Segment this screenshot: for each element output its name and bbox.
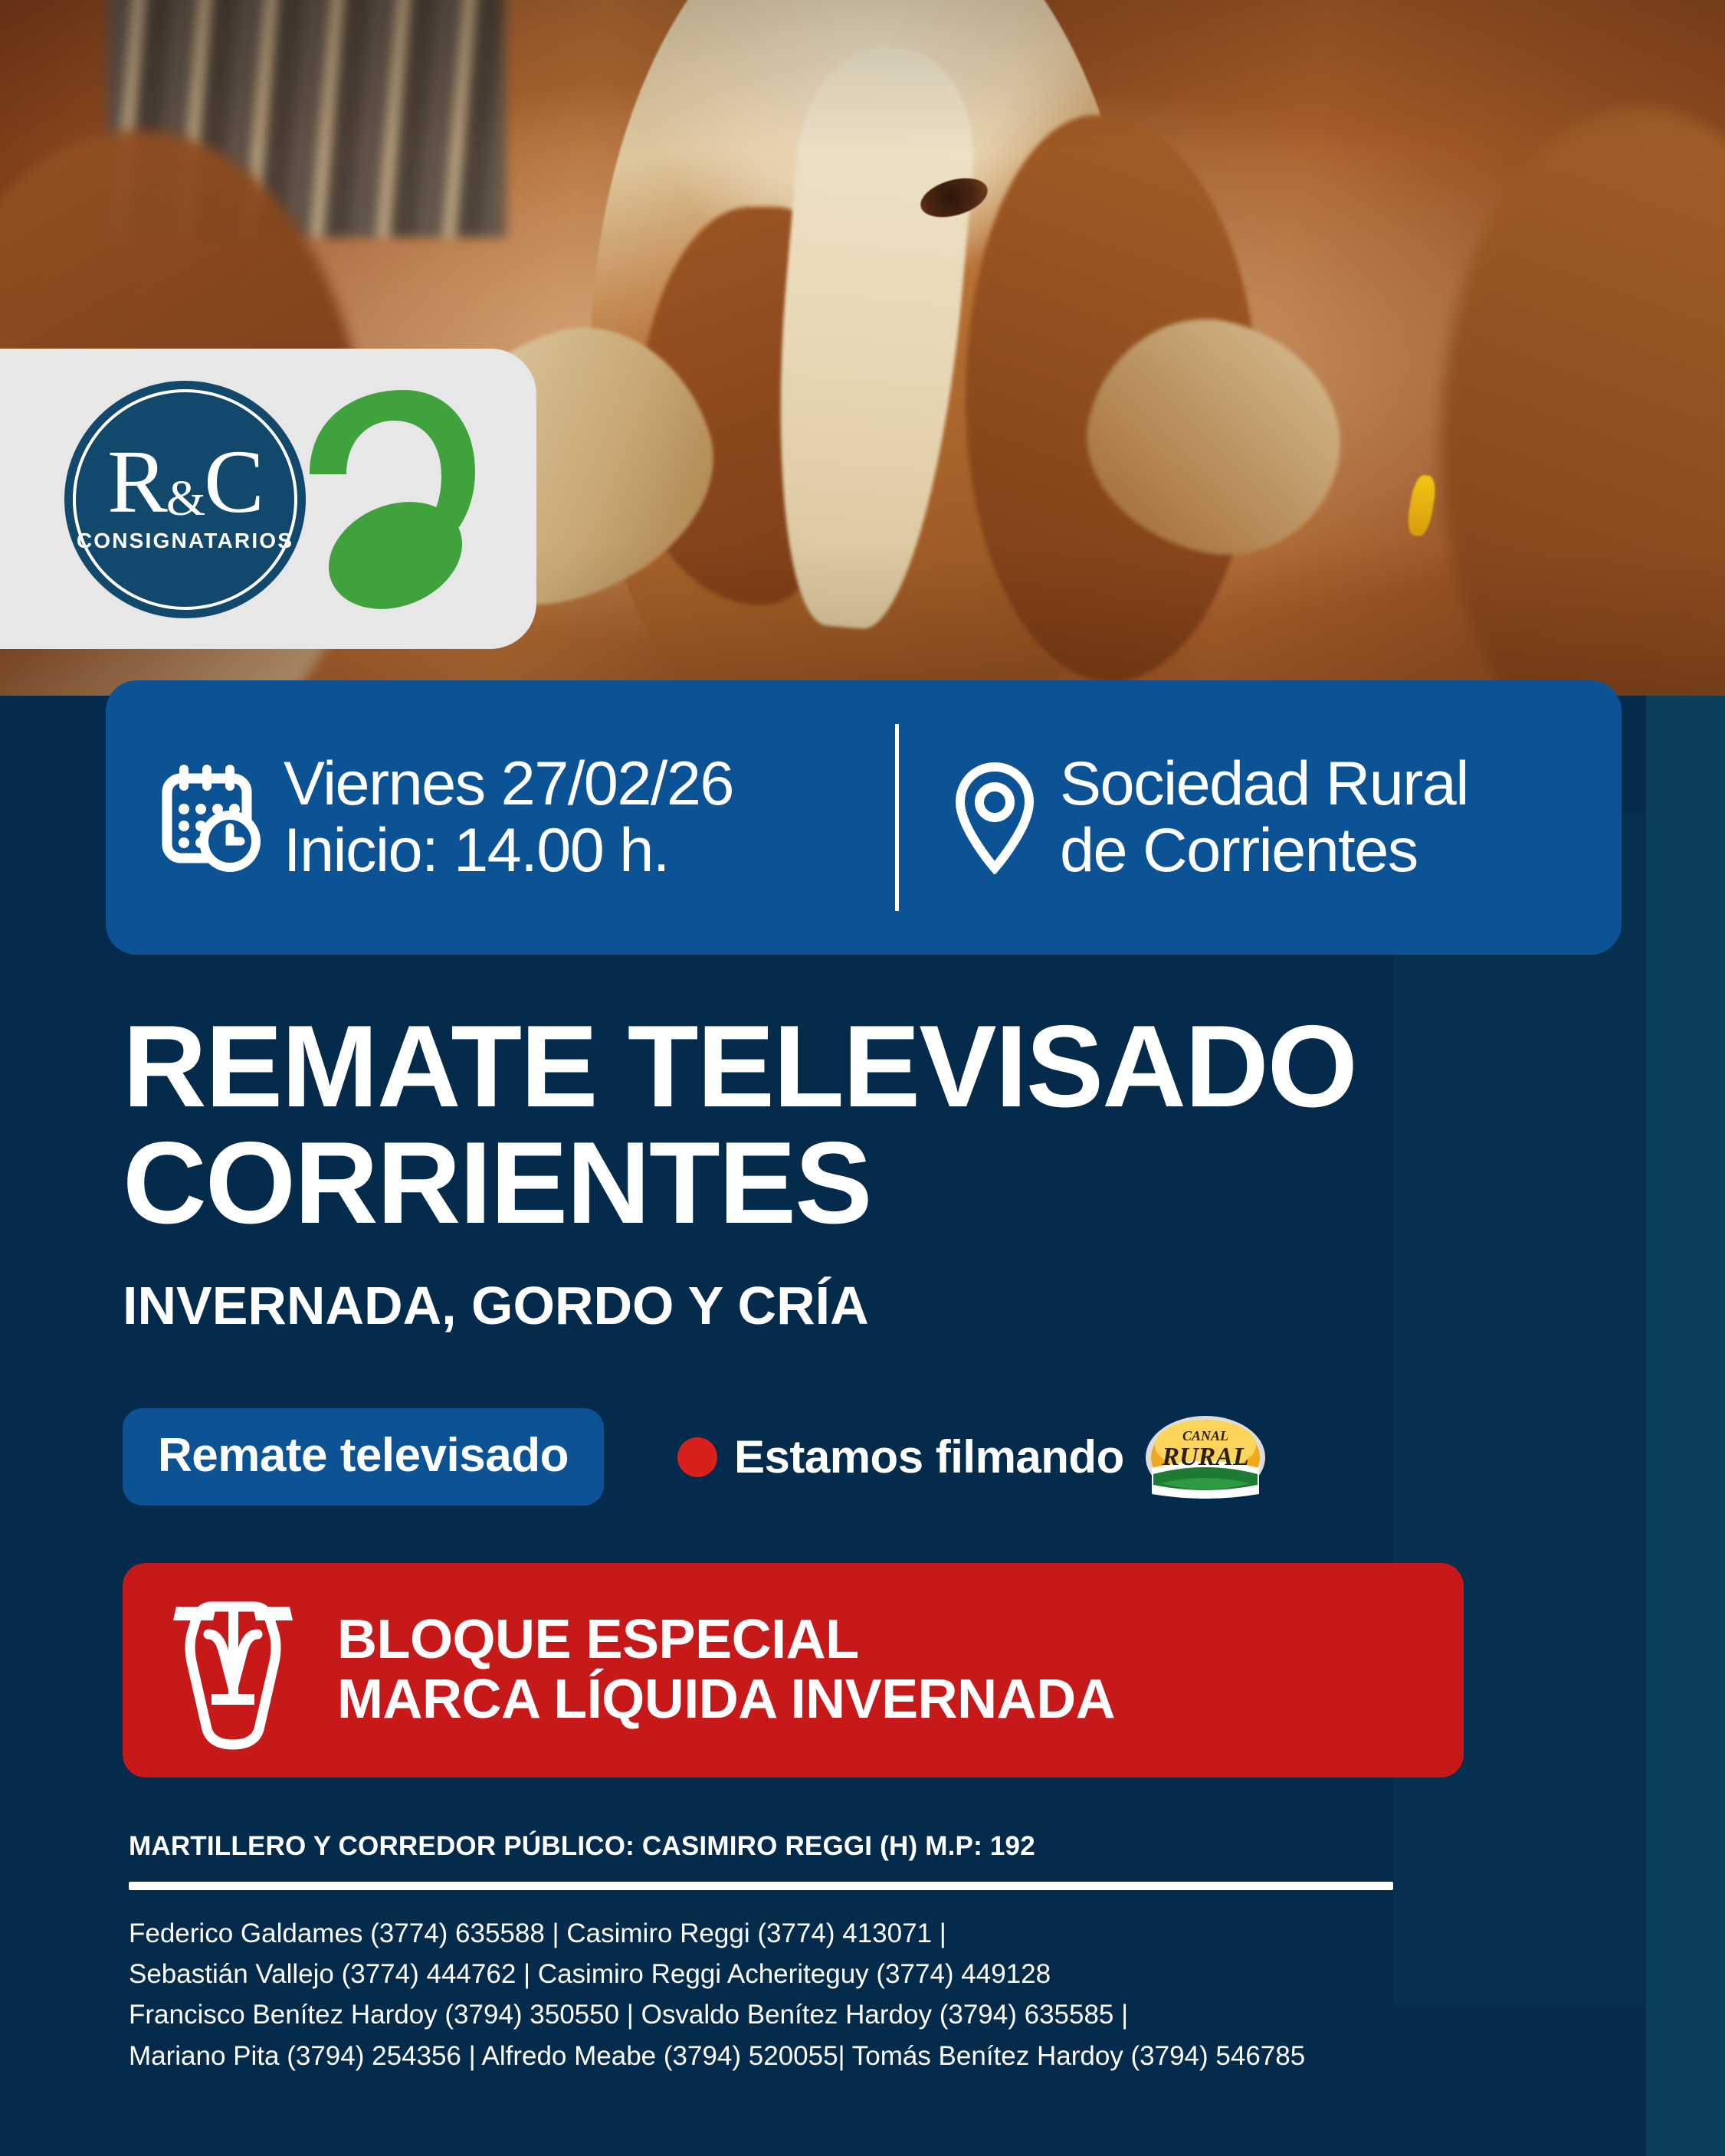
- green-swoosh-icon: [253, 385, 480, 615]
- cattle-brand-icon: [156, 1590, 310, 1751]
- contact-line: Sebastián Vallejo (3774) 444762 | Casimi…: [129, 1954, 1431, 1994]
- event-info-banner: Viernes 27/02/26 Inicio: 14.00 h. Socied…: [106, 680, 1622, 955]
- contact-line: Federico Galdames (3774) 635588 | Casimi…: [129, 1913, 1431, 1954]
- event-date-text: Viernes 27/02/26 Inicio: 14.00 h.: [284, 751, 733, 883]
- broadcast-row: Remate televisado Estamos filmando CANAL…: [123, 1408, 1267, 1506]
- special-block-line-1: BLOQUE ESPECIAL: [337, 1610, 1115, 1670]
- contact-line: Francisco Benítez Hardoy (3794) 350550 |…: [129, 1994, 1431, 2035]
- filming-indicator: Estamos filmando CANAL RURAL: [677, 1414, 1267, 1500]
- logo-subtitle: CONSIGNATARIOS: [77, 529, 294, 553]
- headline-block: REMATE TELEVISADO CORRIENTES INVERNADA, …: [123, 1008, 1579, 1336]
- event-date-line-2: Inicio: 14.00 h.: [284, 818, 733, 884]
- event-date-line-1: Viernes 27/02/26: [284, 751, 733, 818]
- event-location-line-2: de Corrientes: [1060, 818, 1468, 884]
- canal-rural-main-text: RURAL: [1161, 1443, 1248, 1471]
- event-location-line-1: Sociedad Rural: [1060, 751, 1468, 818]
- contact-line: Mariano Pita (3794) 254356 | Alfredo Mea…: [129, 2036, 1431, 2076]
- broadcast-pill[interactable]: Remate televisado: [123, 1408, 604, 1506]
- headline-line-1: REMATE TELEVISADO: [123, 1008, 1579, 1125]
- filming-label: Estamos filmando: [734, 1430, 1124, 1483]
- headline-subtitle: INVERNADA, GORDO Y CRÍA: [123, 1275, 1579, 1336]
- footer-block: MARTILLERO Y CORREDOR PÚBLICO: CASIMIRO …: [129, 1831, 1431, 2076]
- special-block-text: BLOQUE ESPECIAL MARCA LÍQUIDA INVERNADA: [337, 1610, 1115, 1730]
- canal-rural-logo: CANAL RURAL: [1144, 1414, 1267, 1500]
- event-date-group: Viernes 27/02/26 Inicio: 14.00 h.: [106, 751, 895, 883]
- special-block-line-2: MARCA LÍQUIDA INVERNADA: [337, 1670, 1115, 1730]
- auctioneer-title: MARTILLERO Y CORREDOR PÚBLICO: CASIMIRO …: [129, 1831, 1431, 1862]
- footer-divider: [129, 1882, 1393, 1890]
- right-rounded-shape: [1393, 812, 1646, 2007]
- logo-initials: R&C: [107, 441, 263, 523]
- special-block-banner: BLOQUE ESPECIAL MARCA LÍQUIDA INVERNADA: [123, 1563, 1464, 1778]
- event-location-text: Sociedad Rural de Corrientes: [1060, 751, 1468, 883]
- auction-poster: R&C CONSIGNATARIOS Viernes 27/0: [0, 0, 1725, 2156]
- rec-dot-icon: [677, 1437, 717, 1477]
- contact-list: Federico Galdames (3774) 635588 | Casimi…: [129, 1913, 1431, 2076]
- canal-rural-top-text: CANAL: [1182, 1428, 1228, 1443]
- map-pin-icon: [953, 761, 1037, 874]
- event-location-group: Sociedad Rural de Corrientes: [899, 751, 1468, 883]
- calendar-clock-icon: [161, 762, 261, 873]
- brand-logo-card: R&C CONSIGNATARIOS: [0, 349, 536, 649]
- headline-line-2: CORRIENTES: [123, 1125, 1579, 1241]
